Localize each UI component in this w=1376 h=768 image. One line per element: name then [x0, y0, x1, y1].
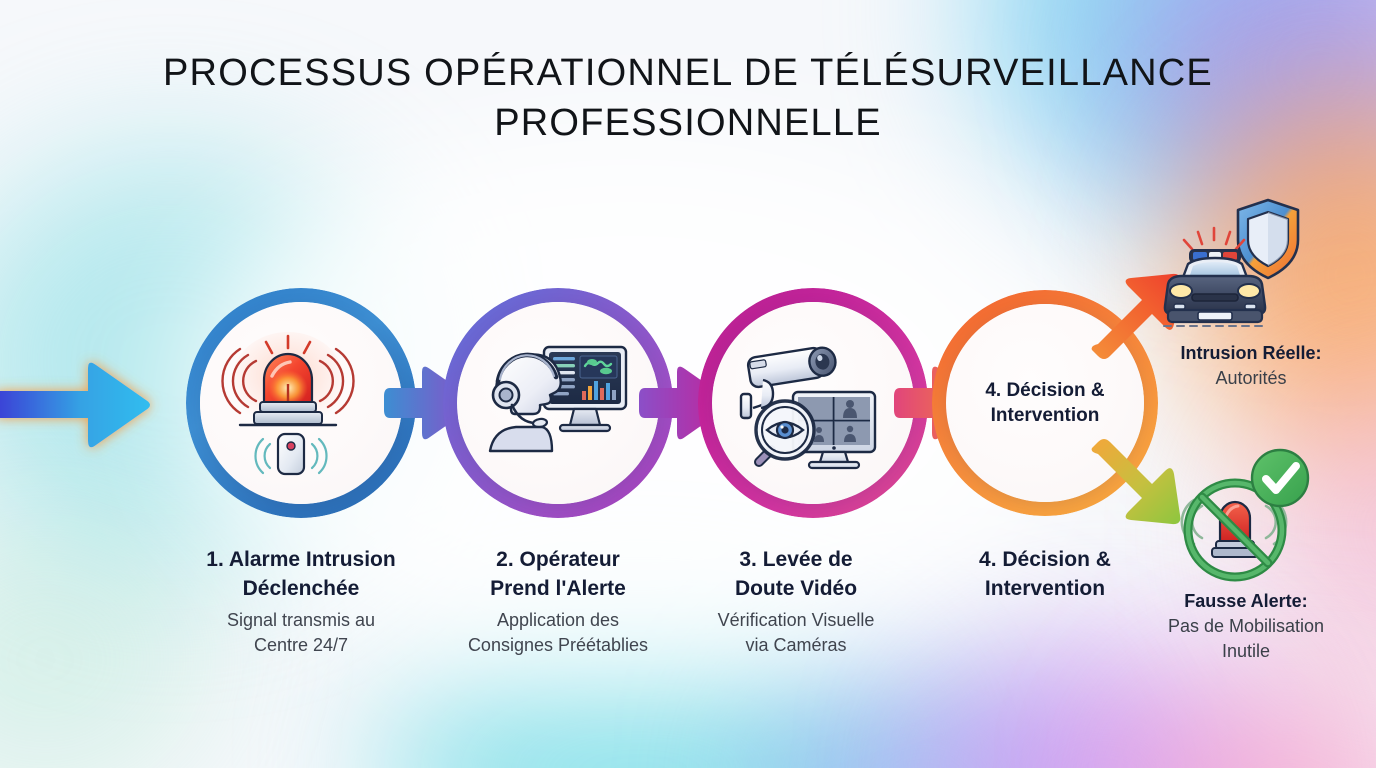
step-1-caption-title: 1. Alarme Intrusion Déclenchée: [148, 545, 454, 603]
step-1[interactable]: [186, 288, 416, 518]
outcome-false-alarm-text: Fausse Alerte: Pas de Mobilisation Inuti…: [1116, 589, 1376, 664]
bg-blob-pink-bottom: [1140, 680, 1376, 768]
entry-arrow: [0, 358, 176, 450]
outcome-false-alarm-icon-wrap: [1170, 446, 1314, 586]
step-3[interactable]: [698, 288, 928, 518]
step-2-caption: 2. Opérateur Prend l'Alerte Application …: [412, 545, 704, 658]
step-4-circle-label: 4. Décision & Intervention: [966, 378, 1124, 428]
step-2-caption-title: 2. Opérateur Prend l'Alerte: [412, 545, 704, 603]
no-alarm-check-icon: [1170, 446, 1314, 586]
page-title-line2: PROFESSIONNELLE: [0, 98, 1376, 148]
step-2-caption-sub: Application des Consignes Préétablies: [412, 608, 704, 658]
outcome-false-alarm-sub-line1: Pas de Mobilisation: [1116, 614, 1376, 639]
step-2-ring: [443, 288, 673, 518]
step-1-ring: [186, 288, 416, 518]
outcome-real-intrusion-title: Intrusion Réelle:: [1126, 341, 1376, 366]
bg-blob-purple-bottom: [940, 650, 1270, 768]
page-title-line1: PROCESSUS OPÉRATIONNEL DE TÉLÉSURVEILLAN…: [0, 48, 1376, 98]
outcome-real-intrusion-icon-wrap: [1152, 192, 1308, 338]
step-1-caption-sub: Signal transmis au Centre 24/7: [148, 608, 454, 658]
step-3-ring: [698, 288, 928, 518]
operator-headset-monitor-icon: [482, 333, 634, 473]
outcome-false-alarm-sub-line2: Inutile: [1116, 639, 1376, 664]
police-car-shield-icon: [1152, 192, 1308, 338]
step-2-disc: [457, 302, 659, 504]
page-title: PROCESSUS OPÉRATIONNEL DE TÉLÉSURVEILLAN…: [0, 48, 1376, 148]
step-1-disc: [200, 302, 402, 504]
step-3-caption-title: 3. Levée de Doute Vidéo: [676, 545, 916, 603]
infographic-canvas: PROCESSUS OPÉRATIONNEL DE TÉLÉSURVEILLAN…: [0, 0, 1376, 768]
step-3-caption-sub: Vérification Visuelle via Caméras: [676, 608, 916, 658]
step-1-caption: 1. Alarme Intrusion Déclenchée Signal tr…: [148, 545, 454, 658]
alarm-siren-icon: [226, 328, 376, 478]
outcome-real-intrusion-sub: Autorités: [1126, 366, 1376, 391]
step-3-caption: 3. Levée de Doute Vidéo Vérification Vis…: [676, 545, 916, 658]
step-3-disc: [712, 302, 914, 504]
bg-blob-cyan-bottom: [380, 640, 900, 768]
step-2[interactable]: [443, 288, 673, 518]
bg-blob-blue-bottom: [760, 660, 1090, 768]
outcome-false-alarm-title: Fausse Alerte:: [1116, 589, 1376, 614]
outcome-real-intrusion-text: Intrusion Réelle: Autorités: [1126, 341, 1376, 391]
cctv-camera-magnifier-icon: [737, 330, 889, 476]
